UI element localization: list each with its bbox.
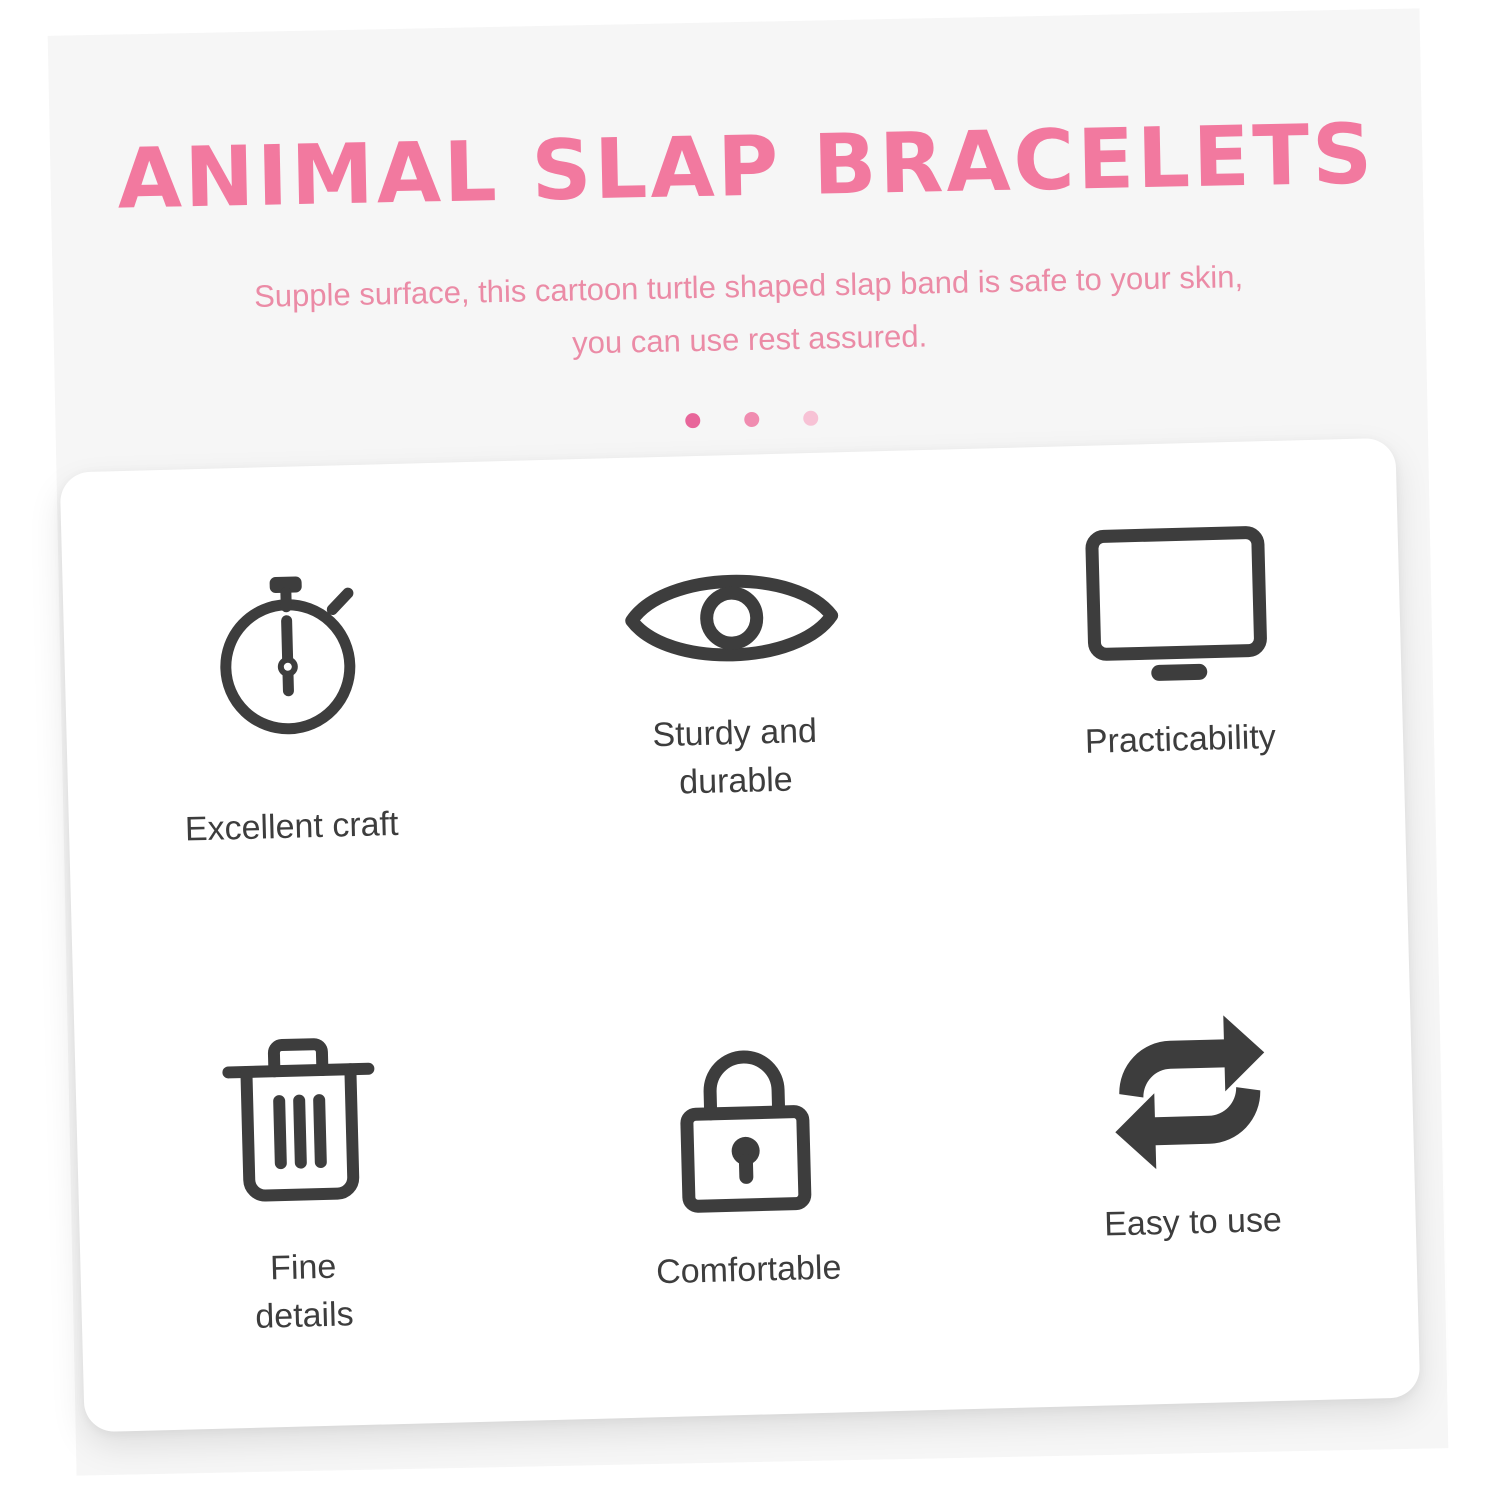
feature-item-fine-details: Fine details bbox=[72, 941, 530, 1432]
feature-label: Excellent craft bbox=[184, 800, 399, 854]
feature-item-sturdy-and-durable: Sturdy and durable bbox=[504, 433, 962, 924]
lock-icon bbox=[663, 1042, 828, 1221]
feature-label: Comfortable bbox=[656, 1243, 842, 1296]
eye-icon bbox=[620, 550, 843, 686]
refresh-arrows-icon bbox=[1095, 1010, 1284, 1175]
feature-item-comfortable: Comfortable bbox=[517, 923, 975, 1414]
feature-grid: Excellent craft Sturdy and durable bbox=[60, 438, 1421, 1433]
feature-label: Fine details bbox=[253, 1242, 354, 1341]
trash-icon bbox=[217, 1032, 382, 1211]
product-infographic: ANIMAL SLAP BRACELETS Supple surface, th… bbox=[0, 0, 1500, 1500]
feature-label: Practicability bbox=[1084, 712, 1276, 765]
feature-label: Sturdy and durable bbox=[652, 707, 819, 807]
feature-item-excellent-craft: Excellent craft bbox=[60, 461, 518, 952]
stopwatch-icon bbox=[205, 561, 370, 745]
feature-item-practicability: Practicability bbox=[949, 398, 1407, 889]
feature-card: Excellent craft Sturdy and durable bbox=[60, 438, 1421, 1433]
feature-item-easy-to-use: Easy to use bbox=[962, 884, 1420, 1375]
monitor-icon bbox=[1080, 521, 1274, 691]
feature-label: Easy to use bbox=[1104, 1196, 1283, 1249]
